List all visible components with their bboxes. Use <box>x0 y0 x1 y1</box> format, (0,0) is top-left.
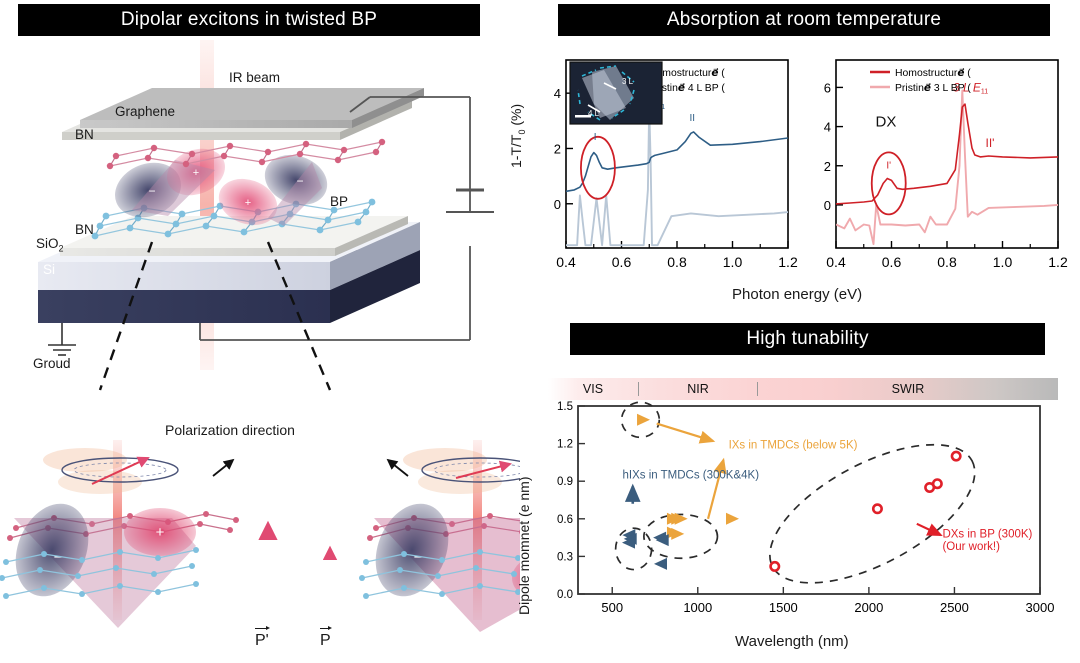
annotation-arrow <box>657 424 713 442</box>
chart-annotation: hIXs in TMDCs (300K&4K) <box>622 470 759 482</box>
svg-text:1.0: 1.0 <box>993 254 1013 270</box>
absorption-ylabel: 1-T/T0 (%) <box>508 104 527 168</box>
series-line <box>566 132 788 191</box>
chart-annotation: II' <box>986 136 995 150</box>
svg-text:1.2: 1.2 <box>778 254 798 270</box>
absorption-panel: Absorption at room temperature 1-T/T0 (%… <box>520 0 1080 315</box>
y-tick-label: 1.2 <box>557 439 573 451</box>
svg-text:0.8: 0.8 <box>937 254 957 270</box>
series-line <box>836 104 1058 204</box>
svg-text:0.4: 0.4 <box>826 254 846 270</box>
chart-annotation: IXs in TMDCs (below 5K) <box>729 440 858 452</box>
x-tick-label: 500 <box>601 600 623 615</box>
label-p: P <box>320 632 331 650</box>
svg-text:2: 2 <box>824 159 831 174</box>
x-tick-label: 3000 <box>1026 600 1055 615</box>
y-tick-label: 0.9 <box>557 476 573 488</box>
label-graphene: Graphene <box>115 104 175 119</box>
tunability-xlabel: Wavelength (nm) <box>735 633 849 650</box>
label-bn-top: BN <box>75 127 94 142</box>
svg-text:6: 6 <box>824 80 831 95</box>
label-p-prime: P' <box>255 632 269 650</box>
left-panel: Dipolar excitons in twisted BP <box>0 0 520 663</box>
y-tick-label: 0.6 <box>557 514 573 526</box>
chart-annotation: I' <box>886 161 891 172</box>
x-tick-label: 2500 <box>940 600 969 615</box>
legend-label: Homostructure⃗ ( <box>895 68 971 79</box>
svg-text:2: 2 <box>554 141 561 156</box>
x-tick-label: 1000 <box>683 600 712 615</box>
plot-frame <box>578 406 1040 594</box>
zoomin-schematics: + − <box>0 400 520 663</box>
x-tick-label: 1500 <box>769 600 798 615</box>
data-point <box>671 528 684 540</box>
x-tick-label: 2000 <box>854 600 883 615</box>
zoomin-right: + − <box>359 440 520 632</box>
y-tick-label: 0.3 <box>557 551 573 563</box>
data-point <box>637 414 650 426</box>
absorption-banner-label: Absorption at room temperature <box>667 9 941 31</box>
chart-annotation: DX <box>876 114 897 131</box>
p-vector-text: P <box>320 632 331 650</box>
ylabel-pre: 1-T/T <box>508 135 524 168</box>
data-point <box>952 452 960 460</box>
label-ir-beam: IR beam <box>229 70 280 85</box>
y-tick-label: 0.0 <box>557 589 573 601</box>
tunability-ylabel: Dipole momnet (e nm) <box>516 477 532 616</box>
svg-text:1.0: 1.0 <box>723 254 743 270</box>
tunability-panel: High tunability VIS NIR SWIR Dipole momn… <box>520 315 1080 663</box>
tunability-banner-label: High tunability <box>746 328 868 350</box>
bp-lattice-upper <box>110 142 382 166</box>
tunability-chart: 0.00.30.60.91.21.55001000150020002500300… <box>542 400 1062 635</box>
spectrum-band-nir: NIR <box>639 382 758 396</box>
chart-annotation: I <box>594 132 597 143</box>
absorption-banner: Absorption at room temperature <box>558 4 1050 36</box>
zoomin-left-minus: − <box>54 549 63 566</box>
ylabel-sub: 0 <box>517 130 527 135</box>
data-point <box>933 480 941 488</box>
polarization-arrows <box>213 460 408 618</box>
svg-text:0: 0 <box>554 197 561 212</box>
p-prime-vector-text: P' <box>255 632 269 650</box>
series-line <box>836 90 1058 244</box>
absorption-xlabel: Photon energy (eV) <box>732 286 862 303</box>
zoomin-right-minus: − <box>414 549 423 566</box>
battery-symbol <box>446 190 494 212</box>
left-banner-label: Dipolar excitons in twisted BP <box>121 9 377 31</box>
data-point <box>654 558 667 570</box>
tunability-banner: High tunability <box>570 323 1045 355</box>
svg-text:0.8: 0.8 <box>667 254 687 270</box>
chart-annotation: DXs in BP (300K) <box>942 529 1032 541</box>
abs-plot-1: 02460.40.60.81.01.2DXI'3 L E11II'Homostr… <box>824 60 1068 270</box>
charge-plus-right: + <box>245 197 251 209</box>
svg-text:0: 0 <box>824 198 831 213</box>
zoomin-left: + − <box>0 440 239 628</box>
svg-text:4: 4 <box>554 86 561 101</box>
absorption-charts: 0240.40.60.81.01.2DXI4L E11IIHomostructu… <box>530 42 1080 307</box>
data-point <box>873 505 881 513</box>
svg-text:0.4: 0.4 <box>556 254 576 270</box>
left-panel-banner: Dipolar excitons in twisted BP <box>18 4 480 36</box>
svg-text:0.6: 0.6 <box>612 254 632 270</box>
label-bp: BP <box>330 194 348 209</box>
charge-minus-right: − <box>296 174 303 188</box>
inset-label-3L: 3 L <box>622 77 634 86</box>
label-polarization-direction: Polarization direction <box>165 422 295 438</box>
legend-label: Pristine⃗ 3 L BP ( <box>895 83 971 94</box>
spectrum-band-swir: SWIR <box>758 382 1058 396</box>
svg-text:1.2: 1.2 <box>1048 254 1068 270</box>
spectrum-bar: VIS NIR SWIR <box>548 378 1058 400</box>
charge-plus-top: + <box>193 167 199 179</box>
svg-text:4: 4 <box>824 120 831 135</box>
chart-annotation: (Our work!) <box>942 541 1000 553</box>
zoomin-left-plus: + <box>156 524 165 541</box>
data-point <box>726 513 739 525</box>
charge-minus-left: − <box>148 184 155 198</box>
spectrum-band-vis: VIS <box>548 382 639 396</box>
sample-micrograph-inset: 3 L4 L <box>570 62 662 124</box>
data-point <box>771 562 779 570</box>
series-line <box>566 107 788 245</box>
chart-annotation: II <box>689 113 695 124</box>
svg-text:0.6: 0.6 <box>882 254 902 270</box>
ylabel-post: (%) <box>508 104 524 130</box>
y-tick-label: 1.5 <box>557 401 573 413</box>
dx-highlight-ellipse <box>581 137 615 199</box>
